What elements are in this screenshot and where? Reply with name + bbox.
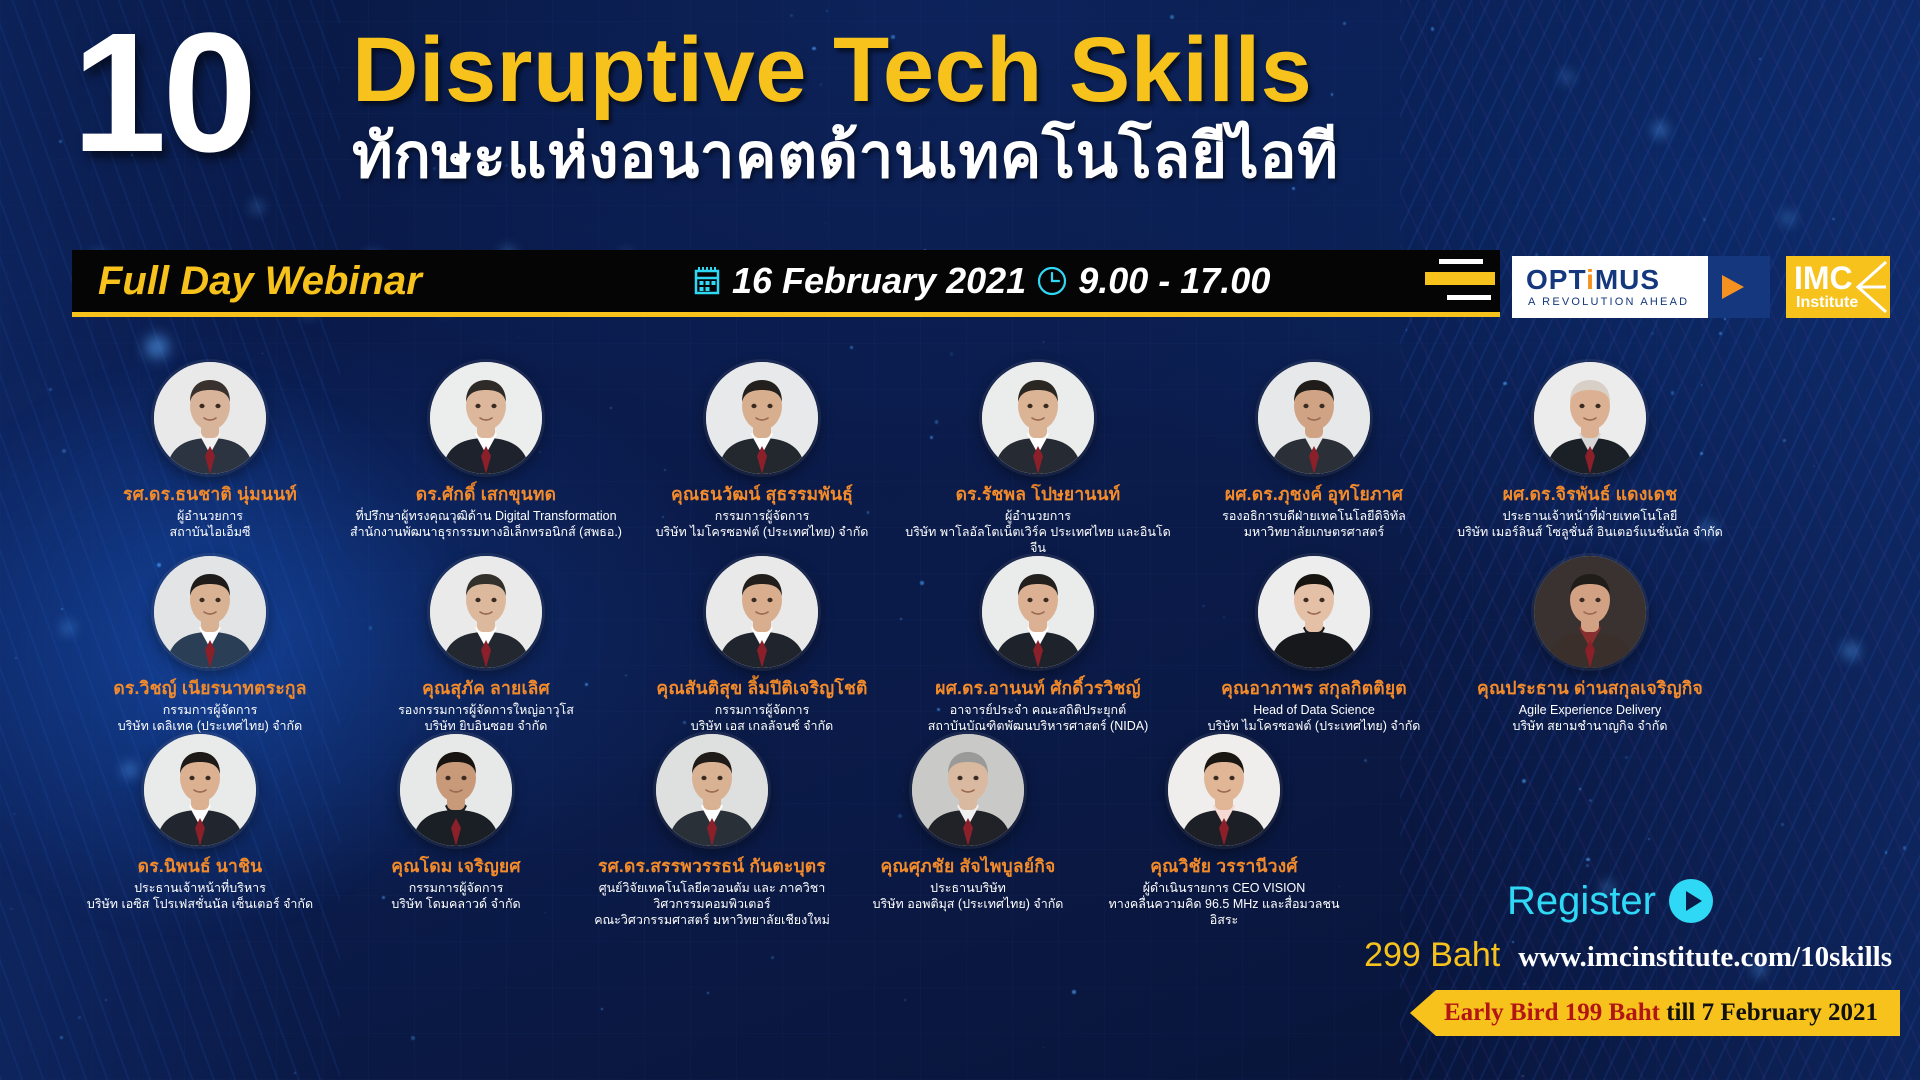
imc-institute-logo: IMC Institute xyxy=(1786,256,1890,318)
imc-logo-sub: Institute xyxy=(1796,294,1858,312)
particle-dot xyxy=(1719,332,1722,335)
speaker-organization: บริษัท เอส เกลลัจนซ์ จำกัด xyxy=(624,718,900,734)
speaker-role: ผู้อำนวยการ xyxy=(900,508,1176,524)
particle-dot xyxy=(294,1072,295,1073)
particle-dot xyxy=(904,999,906,1001)
particle-dot xyxy=(1903,846,1906,849)
speaker-name: ดร.วิชญ์ เนียรนาทตระกูล xyxy=(72,678,348,699)
speaker-portrait-illustration xyxy=(912,734,1024,846)
particle-dot xyxy=(411,1036,415,1040)
speaker-name: ดร.ศักดิ์ เสกขุนทด xyxy=(348,484,624,505)
register-label: Register xyxy=(1507,879,1656,923)
speaker-photo xyxy=(400,734,512,846)
speakers-row-2: ดร.วิชญ์ เนียรนาทตระกูลกรรมการผู้จัดการบ… xyxy=(72,556,1732,734)
particle-dot xyxy=(49,388,52,391)
speaker-organization: บริษัท โดมคลาวด์ จำกัด xyxy=(328,896,584,912)
speaker-portrait-illustration xyxy=(706,362,818,474)
clock-icon xyxy=(1036,265,1068,297)
speaker-photo xyxy=(706,362,818,474)
speaker-role: รองกรรมการผู้จัดการใหญ่อาวุโส xyxy=(348,702,624,718)
speaker-name: ผศ.ดร.อานนท์ ศักดิ์วรวิชญ์ xyxy=(900,678,1176,699)
particle-dot xyxy=(1072,990,1075,993)
speaker-name: คุณวิชัย วรรานีวงศ์ xyxy=(1096,856,1352,877)
speaker-portrait-illustration xyxy=(982,362,1094,474)
speaker-photo xyxy=(656,734,768,846)
speaker-card: ผศ.ดร.ภุชงค์ อุทโยภาศรองอธิการบดีฝ่ายเทค… xyxy=(1176,362,1452,556)
speaker-organization: บริษัท เดลิเทค (ประเทศไทย) จำกัด xyxy=(72,718,348,734)
speaker-portrait-illustration xyxy=(1258,556,1370,668)
speaker-portrait-illustration xyxy=(1168,734,1280,846)
price-and-url: 299 Baht www.imcinstitute.com/10skills xyxy=(1364,936,1892,974)
speaker-card: คุณธนวัฒน์ สุธรรมพันธุ์กรรมการผู้จัดการบ… xyxy=(624,362,900,556)
event-info-bar: Full Day Webinar 16 February 2021 9.00 -… xyxy=(72,250,1500,312)
speaker-photo xyxy=(1258,556,1370,668)
particle-dot xyxy=(950,352,954,356)
price-label: 299 Baht xyxy=(1364,936,1500,974)
particle-dot xyxy=(1724,318,1726,320)
speaker-photo xyxy=(1258,362,1370,474)
speaker-role: ประธานบริษัท xyxy=(840,880,1096,896)
speaker-name: คุณสุภัค ลายเลิศ xyxy=(348,678,624,699)
decorative-dashes xyxy=(1425,253,1495,309)
event-date: 16 February 2021 xyxy=(732,260,1026,302)
particle-dot xyxy=(1651,332,1654,335)
speaker-photo xyxy=(430,556,542,668)
speaker-organization: คณะวิศวกรรมศาสตร์ มหาวิทยาลัยเชียงใหม่ xyxy=(584,912,840,928)
headline-number: 10 xyxy=(72,8,253,178)
calendar-icon xyxy=(692,265,722,297)
speaker-role: ประธานเจ้าหน้าที่บริหาร xyxy=(72,880,328,896)
speaker-organization: มหาวิทยาลัยเกษตรศาสตร์ xyxy=(1176,524,1452,540)
speaker-name: คุณศุภชัย สัจไพบูลย์กิจ xyxy=(840,856,1096,877)
play-circle-icon[interactable] xyxy=(1668,878,1714,924)
speaker-photo xyxy=(154,556,266,668)
speaker-card: รศ.ดร.สรรพวรรธน์ กันตะบุตรศูนย์วิจัยเทคโ… xyxy=(584,734,840,928)
speaker-role: รองอธิการบดีฝ่ายเทคโนโลยีดิจิทัล xyxy=(1176,508,1452,524)
speaker-role: ที่ปรึกษาผู้ทรงคุณวุฒิด้าน Digital Trans… xyxy=(348,508,624,524)
speaker-card: ผศ.ดร.จิรพันธ์ แดงเดชประธานเจ้าหน้าที่ฝ่… xyxy=(1452,362,1728,556)
optimus-logo: OPTiMUS A REVOLUTION AHEAD xyxy=(1512,256,1770,318)
speaker-photo xyxy=(1534,556,1646,668)
speaker-name: รศ.ดร.สรรพวรรธน์ กันตะบุตร xyxy=(584,856,840,877)
speaker-role: ผู้อำนวยการ xyxy=(72,508,348,524)
speaker-role: กรรมการผู้จัดการ xyxy=(624,702,900,718)
speaker-organization: บริษัท ไมโครซอฟต์ (ประเทศไทย) จำกัด xyxy=(1176,718,1452,734)
speakers-grid: รศ.ดร.ธนชาติ นุ่มนนท์ผู้อำนวยการสถาบันไอ… xyxy=(72,362,1732,928)
speaker-name: คุณประธาน ด่านสกุลเจริญกิจ xyxy=(1452,678,1728,699)
speaker-card: ดร.รัชพล โปษยานนท์ผู้อำนวยการบริษัท พาโล… xyxy=(900,362,1176,556)
particle-dot xyxy=(78,1016,81,1019)
speaker-card: ดร.นิพนธ์ นาชินประธานเจ้าหน้าที่บริหารบร… xyxy=(72,734,328,928)
speaker-organization: บริษัท พาโลอัลโตเน็ตเวิร์ค ประเทศไทย และ… xyxy=(900,524,1176,556)
speaker-portrait-illustration xyxy=(154,556,266,668)
speaker-portrait-illustration xyxy=(1258,362,1370,474)
early-bird-banner: Early Bird 199 Baht till 7 February 2021 xyxy=(1410,990,1900,1036)
speaker-card: รศ.ดร.ธนชาติ นุ่มนนท์ผู้อำนวยการสถาบันไอ… xyxy=(72,362,348,556)
speaker-photo xyxy=(144,734,256,846)
speaker-organization: สถาบันบัณฑิตพัฒนบริหารศาสตร์ (NIDA) xyxy=(900,718,1176,734)
particle-dot xyxy=(60,1036,62,1038)
speaker-card: ดร.ศักดิ์ เสกขุนทดที่ปรึกษาผู้ทรงคุณวุฒิ… xyxy=(348,362,624,556)
speaker-name: คุณสันติสุข ลิ้มปีติเจริญโชติ xyxy=(624,678,900,699)
speaker-card: คุณประธาน ด่านสกุลเจริญกิจAgile Experien… xyxy=(1452,556,1728,734)
speaker-card: คุณศุภชัย สัจไพบูลย์กิจประธานบริษัทบริษั… xyxy=(840,734,1096,928)
speaker-photo xyxy=(912,734,1024,846)
speaker-role: Head of Data Science xyxy=(1176,702,1452,718)
speaker-role: ประธานเจ้าหน้าที่ฝ่ายเทคโนโลยี xyxy=(1452,508,1728,524)
webinar-type-label: Full Day Webinar xyxy=(98,259,422,303)
speaker-card: คุณอาภาพร สกุลกิตติยุตHead of Data Scien… xyxy=(1176,556,1452,734)
speaker-role: กรรมการผู้จัดการ xyxy=(624,508,900,524)
speakers-row-1: รศ.ดร.ธนชาติ นุ่มนนท์ผู้อำนวยการสถาบันไอ… xyxy=(72,362,1732,556)
speaker-photo xyxy=(1534,362,1646,474)
speaker-portrait-illustration xyxy=(400,734,512,846)
registration-url[interactable]: www.imcinstitute.com/10skills xyxy=(1518,940,1892,974)
speaker-portrait-illustration xyxy=(1534,362,1646,474)
particle-dot xyxy=(1522,1075,1524,1077)
bokeh-light xyxy=(1840,640,1862,662)
registration-block: Register 299 Baht www.imcinstitute.com/1… xyxy=(1200,878,1900,1058)
speaker-card: ดร.วิชญ์ เนียรนาทตระกูลกรรมการผู้จัดการบ… xyxy=(72,556,348,734)
speaker-name: ดร.นิพนธ์ นาชิน xyxy=(72,856,328,877)
poster-header: 10 Disruptive Tech Skills ทักษะแห่งอนาคต… xyxy=(0,0,1920,300)
speaker-name: คุณโดม เจริญยศ xyxy=(328,856,584,877)
particle-dot xyxy=(707,992,709,994)
speaker-organization: บริษัท ออพติมุส (ประเทศไทย) จำกัด xyxy=(840,896,1096,912)
optimus-logo-name: OPTiMUS xyxy=(1526,266,1689,294)
speaker-photo xyxy=(154,362,266,474)
speaker-organization: บริษัท ยิบอินซอย จำกัด xyxy=(348,718,624,734)
speaker-photo xyxy=(982,556,1094,668)
speaker-portrait-illustration xyxy=(144,734,256,846)
speaker-photo xyxy=(1168,734,1280,846)
speaker-role: กรรมการผู้จัดการ xyxy=(328,880,584,896)
particle-dot xyxy=(62,449,66,453)
particle-dot xyxy=(10,908,13,911)
imc-logo-name: IMC xyxy=(1794,262,1853,294)
event-time: 9.00 - 17.00 xyxy=(1078,260,1270,302)
speaker-name: คุณอาภาพร สกุลกิตติยุต xyxy=(1176,678,1452,699)
info-bar-underline xyxy=(72,312,1500,317)
speaker-card: คุณสันติสุข ลิ้มปีติเจริญโชติกรรมการผู้จ… xyxy=(624,556,900,734)
bokeh-light xyxy=(140,330,174,364)
speaker-portrait-illustration xyxy=(982,556,1094,668)
speaker-role: ศูนย์วิจัยเทคโนโลยีควอนตัม และ ภาควิชาวิ… xyxy=(584,880,840,912)
speaker-photo xyxy=(982,362,1094,474)
speaker-organization: บริษัท เอซิส โปรเฟสชั่นนัล เซ็นเตอร์ จำก… xyxy=(72,896,328,912)
speaker-portrait-illustration xyxy=(656,734,768,846)
speaker-card: คุณสุภัค ลายเลิศรองกรรมการผู้จัดการใหญ่อ… xyxy=(348,556,624,734)
speaker-organization: บริษัท ไมโครซอฟต์ (ประเทศไทย) จำกัด xyxy=(624,524,900,540)
early-bird-highlight: Early Bird 199 Baht xyxy=(1444,999,1660,1027)
speaker-role: อาจารย์ประจำ คณะสถิติประยุกต์ xyxy=(900,702,1176,718)
particle-dot xyxy=(14,813,16,815)
speaker-role: กรรมการผู้จัดการ xyxy=(72,702,348,718)
speaker-organization: บริษัท สยามชำนาญกิจ จำกัด xyxy=(1452,718,1728,734)
register-cta[interactable]: Register xyxy=(1507,878,1714,924)
speaker-name: รศ.ดร.ธนชาติ นุ่มนนท์ xyxy=(72,484,348,505)
speaker-portrait-illustration xyxy=(706,556,818,668)
early-bird-rest: till 7 February 2021 xyxy=(1666,999,1878,1027)
speaker-portrait-illustration xyxy=(430,556,542,668)
speaker-name: ผศ.ดร.จิรพันธ์ แดงเดช xyxy=(1452,484,1728,505)
speaker-name: ดร.รัชพล โปษยานนท์ xyxy=(900,484,1176,505)
speaker-organization: บริษัท เมอร์ลินส์ โซลูชั่นส์ อินเตอร์แนช… xyxy=(1452,524,1728,540)
speaker-portrait-illustration xyxy=(1534,556,1646,668)
headline-title-english: Disruptive Tech Skills xyxy=(352,22,1312,118)
speaker-portrait-illustration xyxy=(430,362,542,474)
speaker-photo xyxy=(430,362,542,474)
speaker-photo xyxy=(706,556,818,668)
speaker-portrait-illustration xyxy=(154,362,266,474)
speaker-name: ผศ.ดร.ภุชงค์ อุทโยภาศ xyxy=(1176,484,1452,505)
speaker-card: ผศ.ดร.อานนท์ ศักดิ์วรวิชญ์อาจารย์ประจำ ค… xyxy=(900,556,1176,734)
speaker-role: Agile Experience Delivery xyxy=(1452,702,1728,718)
event-datetime: 16 February 2021 9.00 - 17.00 xyxy=(692,260,1270,302)
speakers-row-3: ดร.นิพนธ์ นาชินประธานเจ้าหน้าที่บริหารบร… xyxy=(72,734,1352,928)
optimus-arrow-icon xyxy=(1722,275,1744,299)
speaker-name: คุณธนวัฒน์ สุธรรมพันธุ์ xyxy=(624,484,900,505)
optimus-logo-tagline: A REVOLUTION AHEAD xyxy=(1528,296,1689,308)
speaker-organization: สำนักงานพัฒนาธุรกรรมทางอิเล็กทรอนิกส์ (ส… xyxy=(348,524,624,540)
speaker-card: คุณโดม เจริญยศกรรมการผู้จัดการบริษัท โดม… xyxy=(328,734,584,928)
headline-title-thai: ทักษะแห่งอนาคตด้านเทคโนโลยีไอที xyxy=(352,120,1338,194)
speaker-organization: สถาบันไอเอ็มซี xyxy=(72,524,348,540)
